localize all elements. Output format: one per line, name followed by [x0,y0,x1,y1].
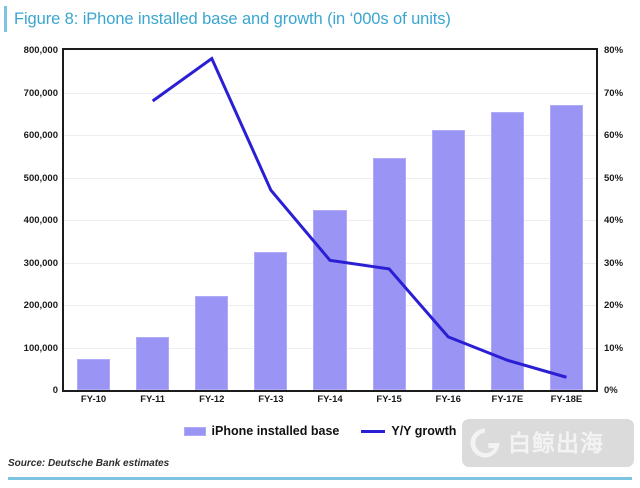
bottom-divider [8,477,632,480]
watermark-text: 白鲸出海 [508,432,604,455]
left-axis-tick-label: 300,000 [0,258,58,269]
right-axis-tick-label: 10% [604,343,640,354]
left-axis-tick-label: 100,000 [0,343,58,354]
left-axis-tick-label: 400,000 [0,215,58,226]
legend-entry[interactable]: Y/Y growth [361,424,456,438]
x-axis-tick-label: FY-17E [478,394,537,405]
left-axis-tick-label: 700,000 [0,88,58,99]
x-axis-tick-label: FY-12 [182,394,241,405]
right-axis-tick-label: 0% [604,385,640,396]
x-axis-tick-label: FY-11 [123,394,182,405]
right-axis-tick-label: 30% [604,258,640,269]
left-axis-tick-label: 0 [0,385,58,396]
x-axis-tick-label: FY-14 [300,394,359,405]
whale-logo-icon [468,426,502,460]
right-axis-tick-label: 80% [604,45,640,56]
legend-label: iPhone installed base [212,424,340,438]
legend-entry[interactable]: iPhone installed base [184,424,340,438]
x-axis-tick-label: FY-13 [241,394,300,405]
watermark: 白鲸出海 [462,419,634,467]
title-accent-bar [4,6,7,32]
right-axis-tick-label: 40% [604,215,640,226]
right-axis-tick-label: 20% [604,300,640,311]
legend-label: Y/Y growth [391,424,456,438]
line-series-yy-growth [62,48,598,392]
right-axis-tick-label: 60% [604,130,640,141]
yy-growth-line[interactable] [153,59,567,378]
x-axis-tick-label: FY-15 [360,394,419,405]
left-axis-tick-label: 500,000 [0,173,58,184]
figure-title-bar: Figure 8: iPhone installed base and grow… [0,0,640,38]
source-note: Source: Deutsche Bank estimates [8,458,169,469]
x-axis-tick-label: FY-10 [64,394,123,405]
left-axis-tick-label: 800,000 [0,45,58,56]
legend-line-swatch-icon [361,430,385,433]
legend-bar-swatch-icon [184,427,206,436]
x-axis-tick-labels: FY-10FY-11FY-12FY-13FY-14FY-15FY-16FY-17… [64,394,596,412]
x-axis-tick-label: FY-18E [537,394,596,405]
page-title: Figure 8: iPhone installed base and grow… [14,10,451,29]
chart-container: 0100,000200,000300,000400,000500,000600,… [0,40,640,412]
left-axis-tick-label: 200,000 [0,300,58,311]
right-axis-tick-label: 70% [604,88,640,99]
x-axis-tick-label: FY-16 [419,394,478,405]
left-axis-tick-label: 600,000 [0,130,58,141]
right-axis-tick-label: 50% [604,173,640,184]
